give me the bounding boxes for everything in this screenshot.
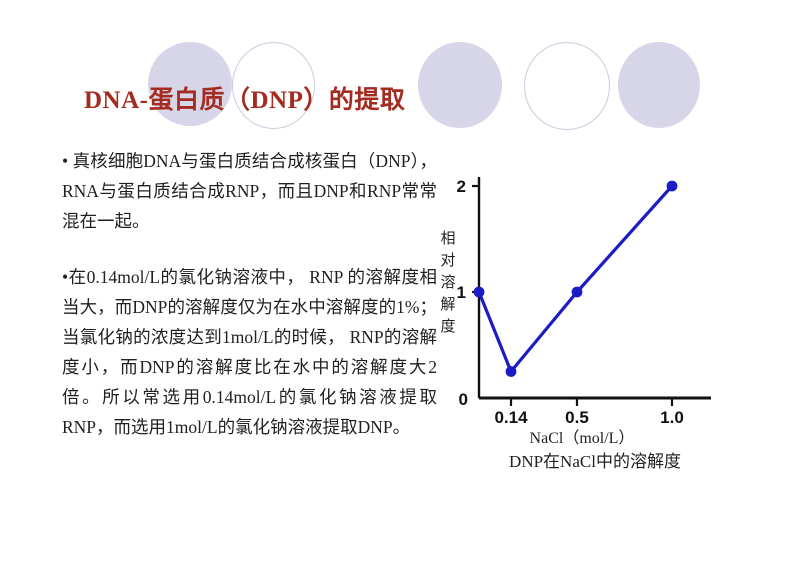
y-axis-title-char-3: 溶 <box>440 274 455 291</box>
body-text-column: • 真核细胞DNA与蛋白质结合成核蛋白（DNP），RNA与蛋白质结合成RNP，而… <box>62 146 437 442</box>
data-point-markers <box>474 181 678 377</box>
y-axis-title-char-1: 相 <box>440 230 455 247</box>
data-point-0 <box>474 287 485 298</box>
decor-circle-4 <box>524 42 610 130</box>
x-axis-title: NaCl（mol/L） <box>530 429 635 445</box>
y-tick-label-2: 2 <box>457 177 466 196</box>
x-tick-label-1-0: 1.0 <box>660 408 684 427</box>
slide-title: DNA-蛋白质（DNP）的提取 <box>84 80 405 116</box>
x-tick-label-0-5: 0.5 <box>565 408 589 427</box>
body-paragraph-2: •在0.14mol/L的氯化钠溶液中， RNP 的溶解度相当大，而DNP的溶解度… <box>62 262 437 442</box>
y-axis-title-char-2: 对 <box>440 252 455 269</box>
decor-circle-3 <box>418 42 502 128</box>
data-point-2 <box>572 287 583 298</box>
data-point-1 <box>506 366 517 377</box>
data-line-series <box>479 186 672 372</box>
chart-svg: 2 1 0 0.14 0.5 1.0 NaCl（mol/L） 相 对 溶 解 度 <box>430 155 760 445</box>
data-point-3 <box>667 181 678 192</box>
y-axis-title-char-4: 解 <box>440 296 455 313</box>
body-paragraph-1: • 真核细胞DNA与蛋白质结合成核蛋白（DNP），RNA与蛋白质结合成RNP，而… <box>62 146 437 236</box>
y-tick-label-0: 0 <box>459 390 468 409</box>
slide-canvas: DNA-蛋白质（DNP）的提取 • 真核细胞DNA与蛋白质结合成核蛋白（DNP）… <box>0 0 793 561</box>
y-tick-label-1: 1 <box>457 283 466 302</box>
solubility-chart: 2 1 0 0.14 0.5 1.0 NaCl（mol/L） 相 对 溶 解 度… <box>430 155 760 485</box>
x-tick-label-0-14: 0.14 <box>494 408 528 427</box>
y-axis-title-char-5: 度 <box>440 318 455 335</box>
decor-circle-5 <box>618 42 700 128</box>
chart-caption: DNP在NaCl中的溶解度 <box>430 447 760 472</box>
